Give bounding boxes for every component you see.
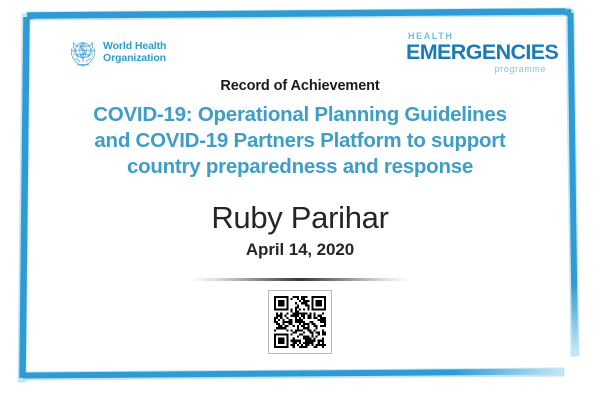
who-wordmark-line2: Organization xyxy=(103,52,166,64)
course-title: COVID-19: Operational Planning Guideline… xyxy=(40,102,560,181)
who-emblem-icon xyxy=(68,38,98,68)
award-date: April 14, 2020 xyxy=(30,240,570,260)
who-wordmark-line1: World Health xyxy=(103,40,166,52)
who-wordmark: World HealthOrganization xyxy=(103,41,166,65)
course-title-line1: COVID-19: Operational Planning Guideline… xyxy=(40,102,560,128)
course-title-line2: and COVID-19 Partners Platform to suppor… xyxy=(40,128,560,154)
certificate-page: World HealthOrganization HEALTH EMERGENC… xyxy=(0,0,600,400)
logo-row: World HealthOrganization HEALTH EMERGENC… xyxy=(30,22,570,74)
certificate-content: World HealthOrganization HEALTH EMERGENC… xyxy=(30,22,570,374)
he-emergencies-label: EMERGENCIES xyxy=(406,42,548,64)
tapered-rule xyxy=(190,278,410,281)
recipient-name: Ruby Parihar xyxy=(30,200,570,236)
qr-code-canvas xyxy=(274,296,326,348)
he-programme-label: programme xyxy=(406,65,546,74)
who-logo: World HealthOrganization xyxy=(68,38,166,68)
health-emergencies-logo: HEALTH EMERGENCIES programme xyxy=(406,32,548,74)
qr-code[interactable] xyxy=(268,290,332,354)
course-title-line3: country preparedness and response xyxy=(40,154,560,180)
record-of-achievement-label: Record of Achievement xyxy=(30,78,570,94)
